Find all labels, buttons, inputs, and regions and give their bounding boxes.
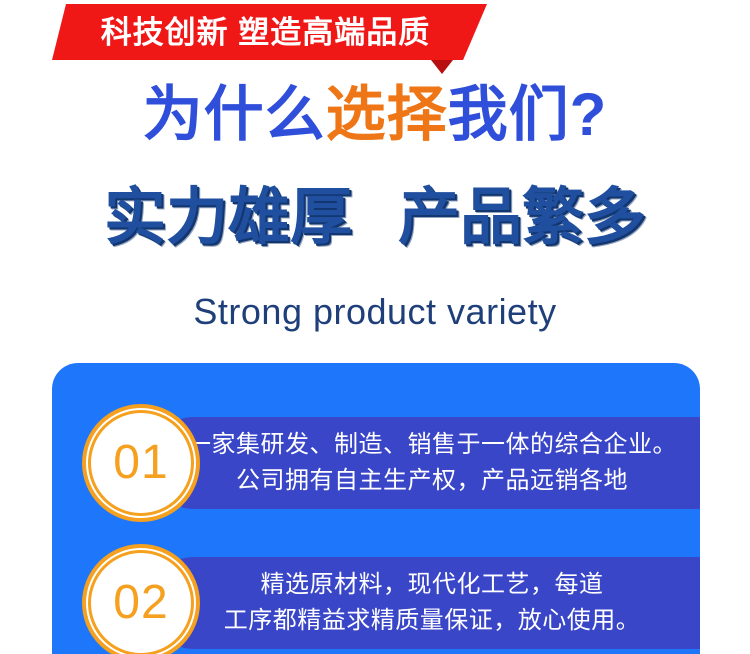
primary-headline-highlight: 选择 — [326, 81, 448, 148]
feature-item-02-badge: 02 — [82, 544, 200, 654]
feature-item-01-line-2: 公司拥有自主生产权，产品远销各地 — [236, 463, 628, 499]
feature-item-02: 精选原材料，现代化工艺，每道 工序都精益求精质量保证，放心使用。 02 — [52, 557, 700, 649]
feature-item-01: 一家集研发、制造、销售于一体的综合企业。 公司拥有自主生产权，产品远销各地 01 — [52, 417, 700, 509]
feature-item-02-line-1: 精选原材料，现代化工艺，每道 — [261, 567, 604, 603]
feature-item-02-number: 02 — [88, 550, 194, 654]
feature-item-01-number: 01 — [88, 410, 194, 516]
primary-headline: 为什么选择我们? — [0, 83, 750, 146]
ribbon-slogan-text: 科技创新 塑造高端品质 — [101, 17, 439, 48]
secondary-headline: 实力雄厚产品繁多 — [0, 184, 750, 252]
top-ribbon-banner: 科技创新 塑造高端品质 — [0, 0, 750, 90]
ribbon-body: 科技创新 塑造高端品质 — [52, 4, 487, 60]
primary-headline-part-1: 为什么 — [143, 81, 326, 148]
feature-item-02-text: 精选原材料，现代化工艺，每道 工序都精益求精质量保证，放心使用。 — [182, 557, 682, 649]
english-subtitle: Strong product variety — [0, 291, 750, 333]
feature-item-01-text: 一家集研发、制造、销售于一体的综合企业。 公司拥有自主生产权，产品远销各地 — [182, 417, 682, 509]
secondary-headline-left: 实力雄厚 — [104, 183, 352, 252]
feature-item-01-badge: 01 — [82, 404, 200, 522]
primary-headline-part-3: 我们? — [448, 81, 608, 148]
feature-panel: 一家集研发、制造、销售于一体的综合企业。 公司拥有自主生产权，产品远销各地 01… — [52, 363, 700, 654]
secondary-headline-right: 产品繁多 — [398, 183, 646, 252]
feature-item-01-line-1: 一家集研发、制造、销售于一体的综合企业。 — [187, 427, 677, 463]
feature-item-02-line-2: 工序都精益求精质量保证，放心使用。 — [224, 603, 641, 639]
